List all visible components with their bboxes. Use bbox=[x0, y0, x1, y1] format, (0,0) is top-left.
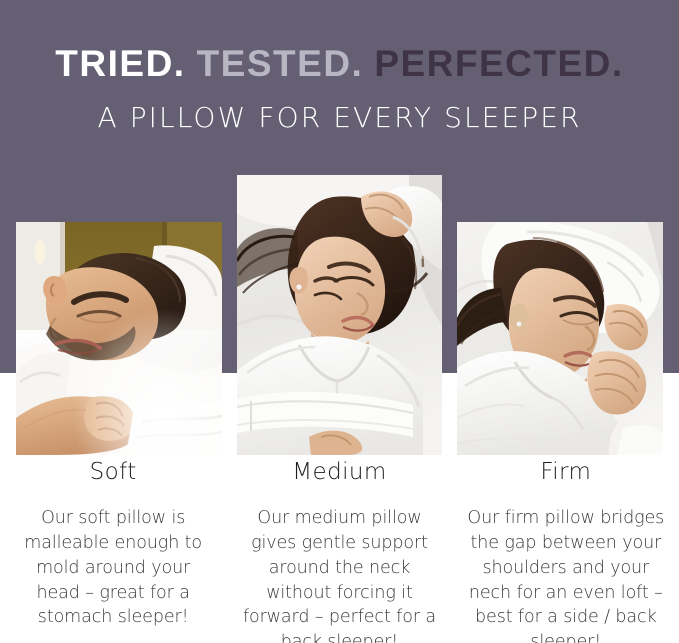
product-description-firm: Our firm pillow bridges the gap between … bbox=[467, 506, 665, 643]
headline-part-perfected: PERFECTED. bbox=[374, 43, 623, 84]
pillow-comparison-poster: TRIED.TESTED.PERFECTED. A PILLOW FOR EVE… bbox=[0, 0, 679, 643]
product-description-medium: Our medium pillow gives gentle support a… bbox=[240, 506, 438, 643]
headline-part-tested: TESTED. bbox=[197, 43, 364, 84]
caption-cell-soft: Soft bbox=[0, 460, 226, 485]
product-photo-medium bbox=[237, 175, 442, 455]
description-cell-medium: Our medium pillow gives gentle support a… bbox=[226, 506, 452, 643]
product-title-firm: Firm bbox=[453, 460, 679, 485]
headline: TRIED.TESTED.PERFECTED. bbox=[0, 45, 679, 82]
caption-cell-firm: Firm bbox=[453, 460, 679, 485]
headline-part-tried: TRIED. bbox=[55, 43, 185, 84]
description-row: Our soft pillow is malleable enough to m… bbox=[0, 506, 679, 643]
product-description-soft: Our soft pillow is malleable enough to m… bbox=[14, 506, 212, 630]
description-cell-soft: Our soft pillow is malleable enough to m… bbox=[0, 506, 226, 643]
caption-row: Soft Medium Firm bbox=[0, 460, 679, 485]
product-title-medium: Medium bbox=[226, 460, 452, 485]
description-cell-firm: Our firm pillow bridges the gap between … bbox=[453, 506, 679, 643]
subheadline: A PILLOW FOR EVERY SLEEPER bbox=[0, 104, 679, 132]
product-photo-firm bbox=[457, 222, 663, 455]
product-photo-soft bbox=[16, 222, 222, 455]
caption-cell-medium: Medium bbox=[226, 460, 452, 485]
product-title-soft: Soft bbox=[0, 460, 226, 485]
